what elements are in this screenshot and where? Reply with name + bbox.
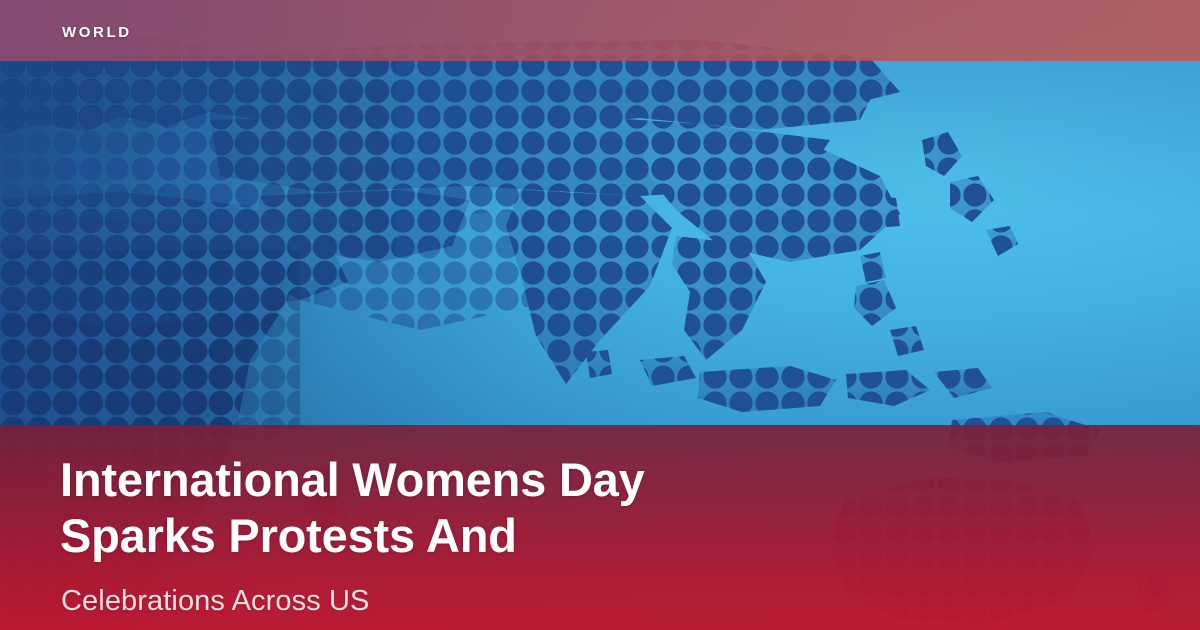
category-band bbox=[0, 0, 1200, 61]
headline-line-2: Sparks Protests And bbox=[60, 508, 960, 564]
headline[interactable]: International Womens Day Sparks Protests… bbox=[60, 452, 960, 564]
subheadline: Celebrations Across US bbox=[61, 584, 369, 618]
category-label[interactable]: WORLD bbox=[62, 24, 132, 42]
share-card: WORLD International Womens Day Sparks Pr… bbox=[0, 0, 1200, 630]
headline-line-1: International Womens Day bbox=[60, 452, 960, 508]
